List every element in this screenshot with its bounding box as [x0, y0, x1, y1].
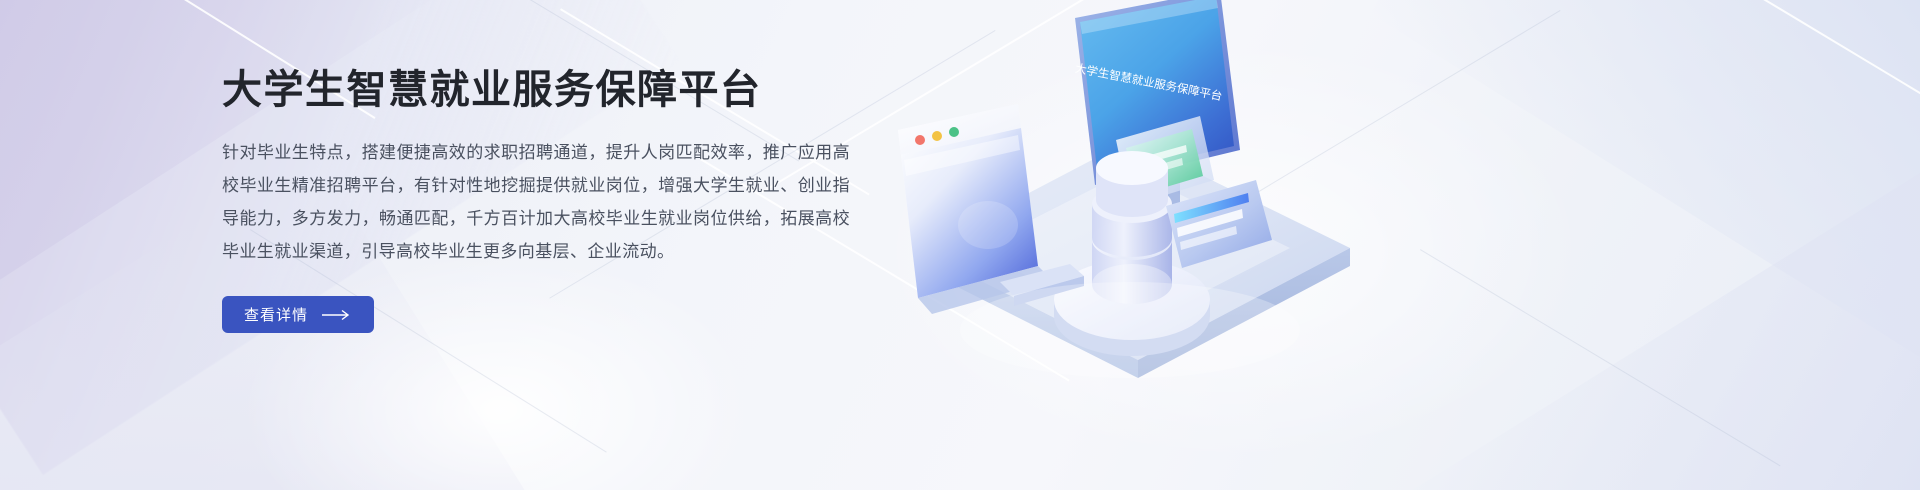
window-dot-green [949, 127, 959, 137]
decor-line-10 [1420, 249, 1781, 466]
banner-description: 针对毕业生特点，搭建便捷高效的求职招聘通道，提升人岗匹配效率，推广应用高校毕业生… [222, 136, 850, 268]
banner-copy: 大学生智慧就业服务保障平台 针对毕业生特点，搭建便捷高效的求职招聘通道，提升人岗… [222, 70, 862, 333]
background-tint-top-right [1370, 0, 1920, 395]
decor-line-9 [1680, 0, 1920, 187]
window-dot-yellow [932, 131, 942, 141]
isometric-illustration: 大学生智慧就业服务保障平台 [880, 0, 1440, 490]
background-tint-bottom-right [1379, 140, 1920, 490]
hero-banner: 大学生智慧就业服务保障平台 针对毕业生特点，搭建便捷高效的求职招聘通道，提升人岗… [0, 0, 1920, 490]
window-dot-red [915, 135, 925, 145]
page-title: 大学生智慧就业服务保障平台 [222, 70, 862, 110]
view-details-label: 查看详情 [244, 304, 308, 325]
view-details-button[interactable]: 查看详情 [222, 296, 374, 333]
arrow-right-icon [322, 309, 352, 321]
